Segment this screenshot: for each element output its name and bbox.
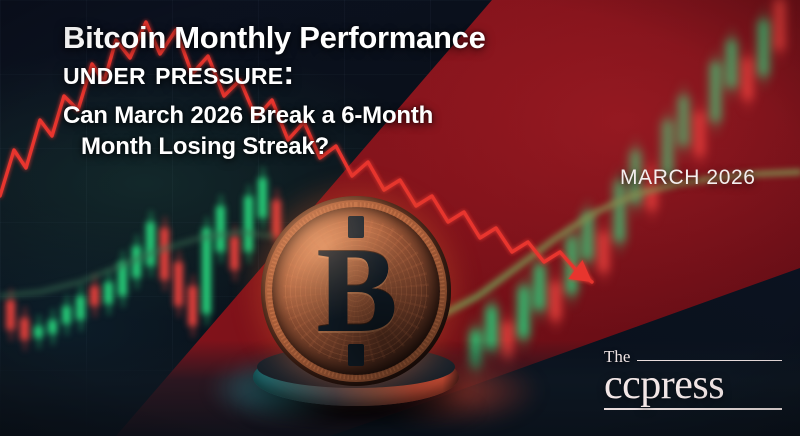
coin-shading [261, 196, 451, 386]
banner-graphic: B Bitcoin Monthly Performance Under Pres… [0, 0, 800, 436]
subhead-line-1: Can March 2026 Break a 6-Month [63, 102, 433, 129]
subhead-line-2: Month Losing Streak? [63, 131, 663, 162]
logo-underline [604, 408, 782, 410]
logo-name: ccpress [604, 366, 782, 406]
page-title: Bitcoin Monthly Performance Under Pressu… [63, 20, 683, 90]
headline-line-1: Bitcoin Monthly Performance [63, 20, 486, 55]
coin-face: B [261, 196, 451, 386]
site-logo[interactable]: The ccpress [604, 348, 782, 410]
page-subtitle: Can March 2026 Break a 6-Month Month Los… [63, 100, 663, 162]
date-badge: MARCH 2026 [620, 166, 756, 190]
headline-line-2: Under Pressure: [63, 55, 683, 90]
logo-rule [637, 360, 782, 361]
bitcoin-coin: B [253, 196, 459, 410]
